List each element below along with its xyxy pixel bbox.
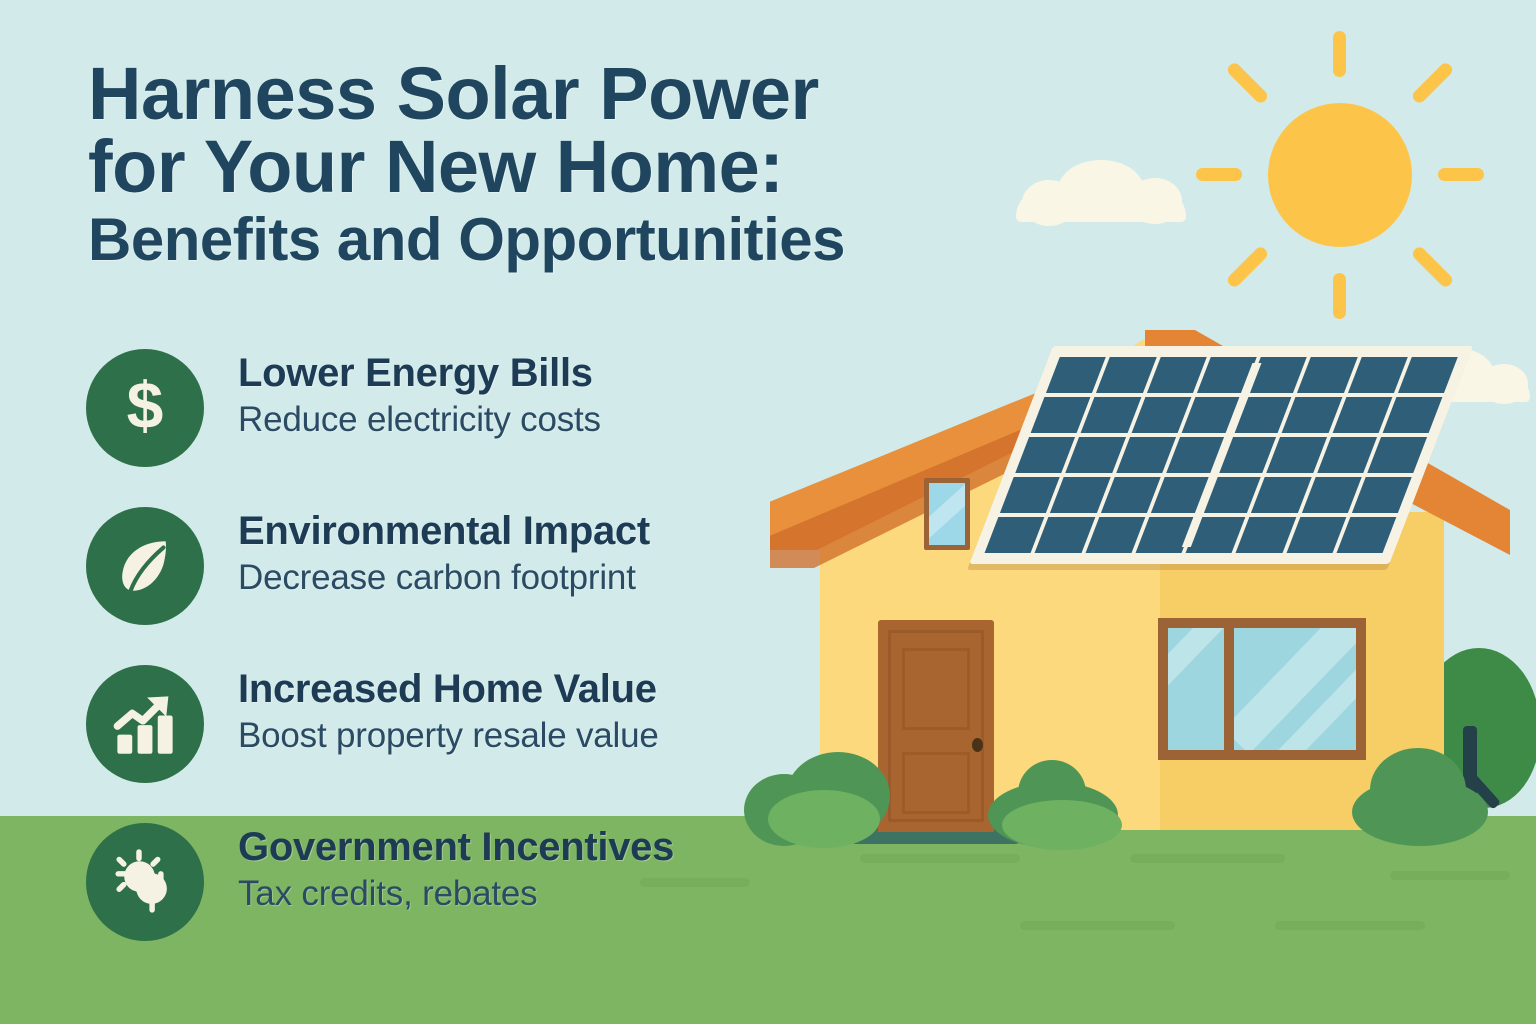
- benefit-subtitle: Tax credits, rebates: [238, 874, 674, 914]
- sun-ray: [1196, 168, 1242, 181]
- solar-panel-illustration: [969, 346, 1473, 564]
- door-knob: [972, 738, 983, 752]
- benefit-icon-badge: $: [86, 349, 204, 467]
- benefit-title: Increased Home Value: [238, 667, 659, 712]
- benefit-item-lower-energy-bills: $ Lower Energy Bills Reduce electricity …: [86, 345, 826, 503]
- benefit-icon-badge: [86, 507, 204, 625]
- benefit-item-environmental-impact: Environmental Impact Decrease carbon foo…: [86, 503, 826, 661]
- benefit-item-government-incentives: Government Incentives Tax credits, rebat…: [86, 819, 826, 977]
- bar-chart-up-icon: [111, 690, 179, 758]
- solar-infographic-poster: Harness Solar Power for Your New Home: B…: [0, 0, 1536, 1024]
- benefit-title: Environmental Impact: [238, 509, 650, 554]
- window-pane-left: [1168, 628, 1224, 750]
- title-line-3: Benefits and Opportunities: [88, 211, 968, 270]
- benefit-text: Government Incentives Tax credits, rebat…: [238, 825, 674, 914]
- sun-icon: [1268, 103, 1412, 247]
- window-pane-right: [1234, 628, 1356, 750]
- cloud-icon: [1016, 160, 1186, 222]
- benefit-subtitle: Decrease carbon footprint: [238, 558, 650, 598]
- benefits-list: $ Lower Energy Bills Reduce electricity …: [86, 345, 826, 977]
- title-line-2: for Your New Home:: [88, 131, 968, 204]
- grass-dash: [1130, 854, 1285, 863]
- benefit-subtitle: Boost property resale value: [238, 716, 659, 756]
- benefit-text: Lower Energy Bills Reduce electricity co…: [238, 351, 601, 440]
- dollar-sign-icon: $: [111, 374, 179, 442]
- sun-plug-icon: [110, 847, 180, 917]
- bush-illustration: [988, 760, 1146, 850]
- solar-panel-grid: [985, 357, 1458, 553]
- grass-dash: [1275, 921, 1425, 930]
- grass-dash: [860, 854, 1020, 863]
- page-title: Harness Solar Power for Your New Home: B…: [88, 58, 968, 270]
- benefit-subtitle: Reduce electricity costs: [238, 400, 601, 440]
- house-window: [1158, 618, 1366, 760]
- benefit-item-increased-home-value: Increased Home Value Boost property resa…: [86, 661, 826, 819]
- sun-ray: [1333, 273, 1346, 319]
- benefit-icon-badge: [86, 665, 204, 783]
- title-line-1: Harness Solar Power: [88, 58, 968, 131]
- sun-ray: [1333, 31, 1346, 77]
- benefit-title: Lower Energy Bills: [238, 351, 601, 396]
- door-panel: [902, 648, 970, 730]
- benefit-icon-badge: [86, 823, 204, 941]
- leaf-icon: [112, 533, 178, 599]
- svg-text:$: $: [127, 374, 164, 442]
- benefit-title: Government Incentives: [238, 825, 674, 870]
- grass-dash: [1020, 921, 1175, 930]
- benefit-text: Increased Home Value Boost property resa…: [238, 667, 659, 756]
- benefit-text: Environmental Impact Decrease carbon foo…: [238, 509, 650, 598]
- grass-dash: [1390, 871, 1510, 880]
- sun-disc: [1268, 103, 1412, 247]
- bush-illustration: [1352, 748, 1502, 848]
- attic-window-glass: [929, 483, 965, 545]
- attic-window: [924, 478, 970, 550]
- sun-ray: [1438, 168, 1484, 181]
